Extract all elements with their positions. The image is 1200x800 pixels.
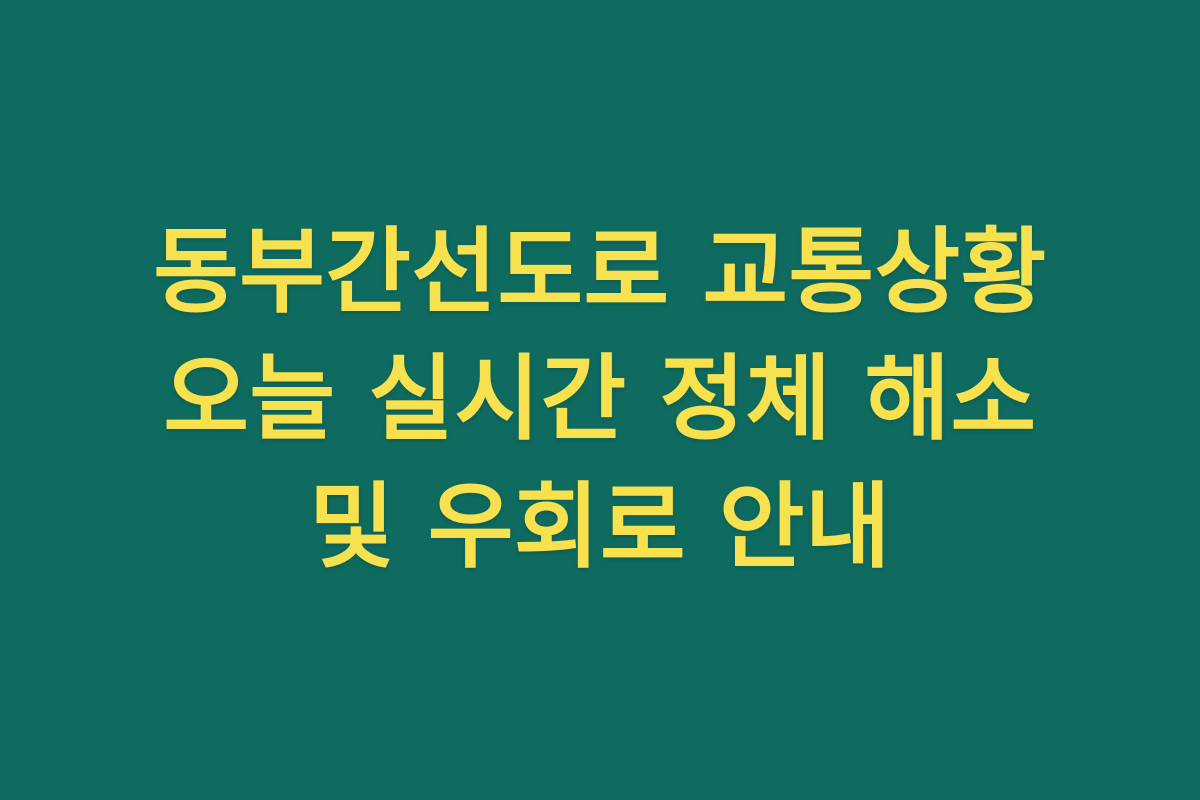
headline-line-1: 동부간선도로 교통상황 [40,209,1160,336]
banner-canvas: 동부간선도로 교통상황 오늘 실시간 정체 해소 및 우회로 안내 [0,0,1200,800]
headline-block: 동부간선도로 교통상황 오늘 실시간 정체 해소 및 우회로 안내 [0,209,1200,591]
headline-line-3: 및 우회로 안내 [40,464,1160,591]
headline-line-2: 오늘 실시간 정체 해소 [40,336,1160,463]
